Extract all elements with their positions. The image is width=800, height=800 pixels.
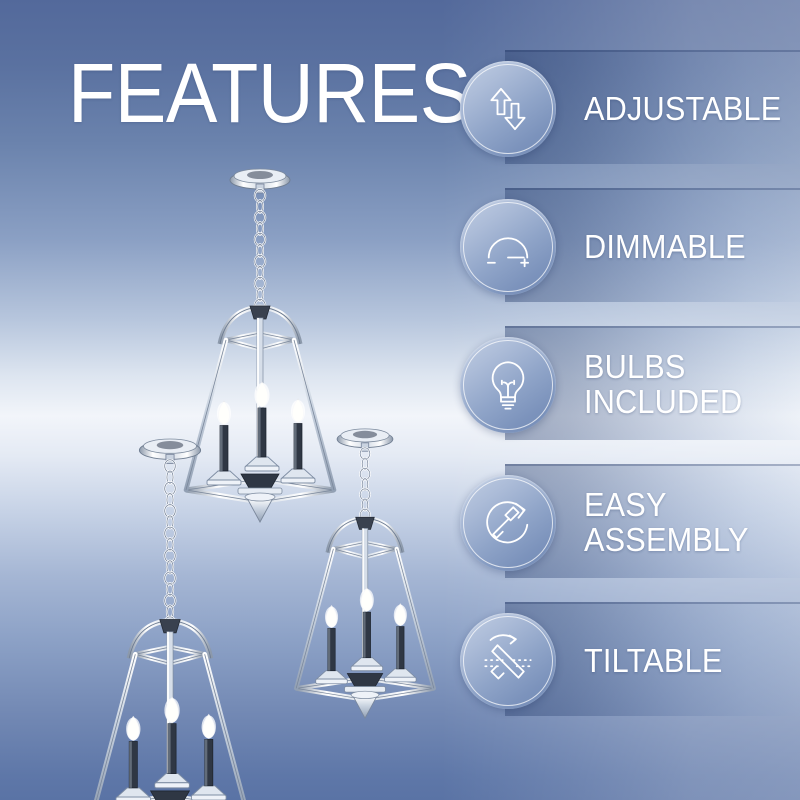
- page-title: FEATURES: [68, 52, 471, 134]
- feature-item-easy-assembly[interactable]: EASY ASSEMBLY: [460, 475, 761, 571]
- product-image-chandelier-bottom-left: [68, 438, 272, 800]
- feature-item-tiltable[interactable]: TILTABLE: [460, 613, 733, 709]
- feature-label-bulbs-included: BULBS INCLUDED: [584, 350, 742, 420]
- feature-graphic: FEATURES: [0, 0, 800, 800]
- feature-item-dimmable[interactable]: DIMMABLE: [460, 199, 758, 295]
- feature-item-adjustable[interactable]: ADJUSTABLE: [460, 61, 796, 157]
- dimmer-dial-icon: [460, 199, 556, 295]
- screwdriver-rotate-icon: [460, 475, 556, 571]
- product-image-chandelier-bottom-right: [272, 428, 458, 731]
- feature-label-easy-assembly: EASY ASSEMBLY: [584, 488, 749, 558]
- light-bulb-icon: [460, 337, 556, 433]
- feature-label-dimmable: DIMMABLE: [584, 230, 746, 265]
- tilt-bar-icon: [460, 613, 556, 709]
- up-down-arrows-icon: [460, 61, 556, 157]
- feature-label-tiltable: TILTABLE: [584, 644, 723, 679]
- feature-label-adjustable: ADJUSTABLE: [584, 92, 781, 127]
- feature-item-bulbs-included[interactable]: BULBS INCLUDED: [460, 337, 754, 433]
